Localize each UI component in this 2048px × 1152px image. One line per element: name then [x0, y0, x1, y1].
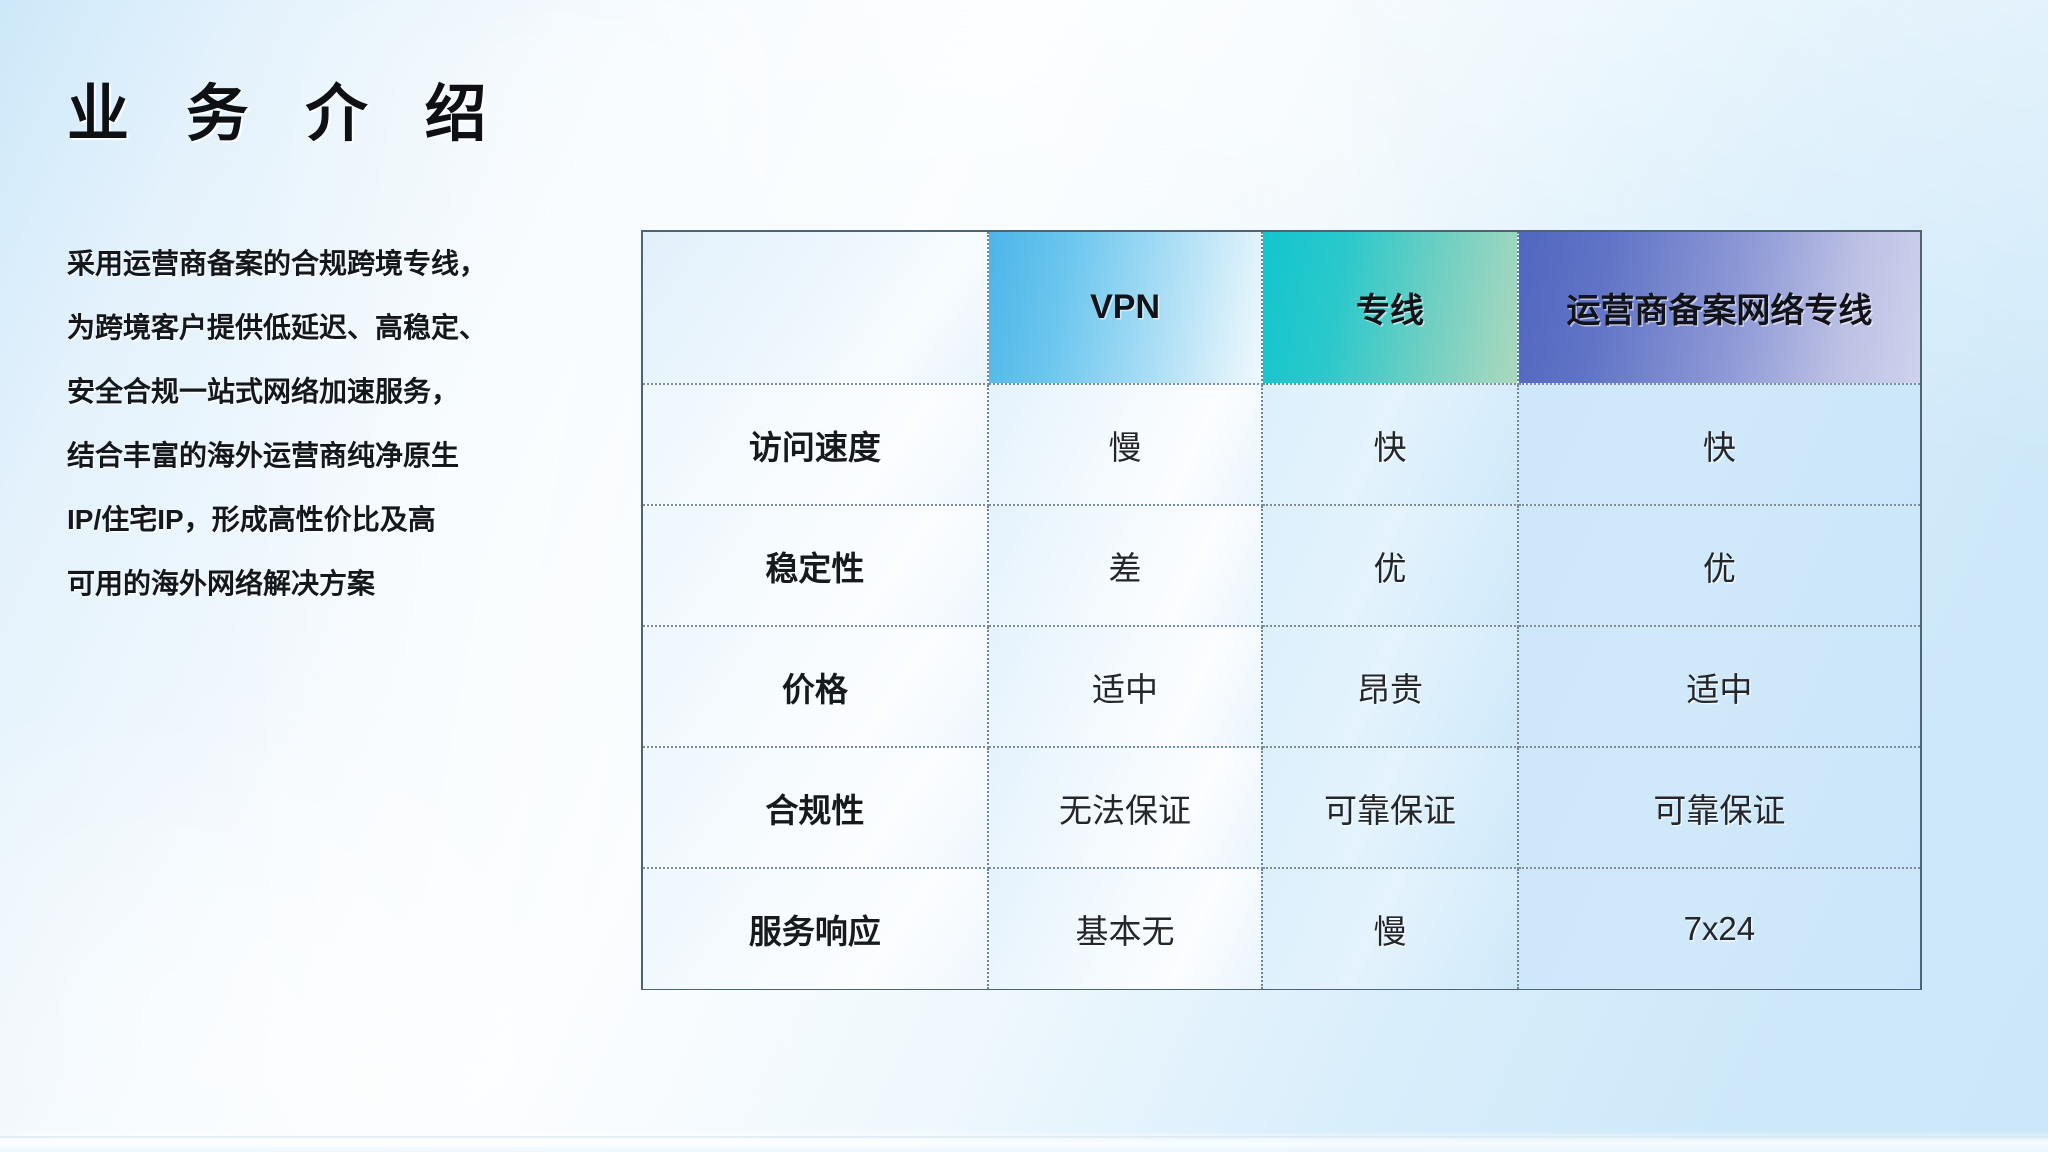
table-cell-value: 昂贵: [1357, 671, 1423, 708]
table-row-label: 合规性: [765, 792, 864, 829]
slide-canvas: 业 务 介 绍 采用运营商备案的合规跨境专线， 为跨境客户提供低延迟、高稳定、 …: [0, 0, 2048, 1152]
table-cell-value: 快: [1703, 429, 1736, 466]
table-row-label-cell: 稳定性: [643, 505, 988, 626]
table-row: 稳定性 差 优 优: [643, 505, 1920, 626]
table-row-label: 稳定性: [765, 550, 864, 587]
table-header: VPN 专线 运营商备案网络专线: [643, 232, 1920, 384]
table-cell-dedicated-line: 快: [1262, 384, 1517, 505]
table-row-label-cell: 服务响应: [643, 868, 988, 989]
table-cell-vpn: 慢: [988, 384, 1263, 505]
table-row-label-cell: 价格: [643, 626, 988, 747]
table-cell-carrier-registered-line: 可靠保证: [1518, 747, 1920, 868]
table-cell-dedicated-line: 优: [1262, 505, 1517, 626]
table-header-row: VPN 专线 运营商备案网络专线: [643, 232, 1920, 384]
table-cell-carrier-registered-line: 7x24: [1518, 868, 1920, 989]
table-cell-carrier-registered-line: 优: [1518, 505, 1920, 626]
table-row-label: 服务响应: [749, 913, 881, 950]
table-header-label: VPN: [1090, 288, 1160, 326]
table-cell-value: 快: [1374, 429, 1407, 466]
table-cell-vpn: 基本无: [988, 868, 1263, 989]
table-cell-value: 可靠保证: [1653, 792, 1785, 829]
table-cell-value: 慢: [1109, 429, 1142, 466]
table-cell-vpn: 适中: [988, 626, 1263, 747]
paragraph-line: 结合丰富的海外运营商纯净原生: [67, 424, 627, 488]
table-cell-value: 差: [1109, 550, 1142, 587]
paragraph-line: IP/住宅IP，形成高性价比及高: [67, 488, 627, 552]
table-header-cell-dedicated-line: 专线: [1262, 232, 1517, 384]
table-header-label: 运营商备案网络专线: [1566, 292, 1872, 330]
table-header-cell-blank: [643, 232, 988, 384]
table-header-cell-carrier-registered-line: 运营商备案网络专线: [1518, 232, 1920, 384]
table-cell-vpn: 差: [988, 505, 1263, 626]
paragraph-line: 可用的海外网络解决方案: [67, 552, 627, 616]
table-cell-value: 无法保证: [1059, 792, 1191, 829]
table-row-label: 价格: [782, 671, 848, 708]
comparison-table-wrapper: VPN 专线 运营商备案网络专线 访问速度 慢: [641, 230, 1922, 990]
paragraph-line: 采用运营商备案的合规跨境专线，: [67, 232, 627, 296]
table-cell-dedicated-line: 昂贵: [1262, 626, 1517, 747]
table-row: 服务响应 基本无 慢 7x24: [643, 868, 1920, 989]
paragraph-line: 为跨境客户提供低延迟、高稳定、: [67, 296, 627, 360]
table-cell-vpn: 无法保证: [988, 747, 1263, 868]
description-paragraph: 采用运营商备案的合规跨境专线， 为跨境客户提供低延迟、高稳定、 安全合规一站式网…: [67, 232, 627, 616]
table-cell-dedicated-line: 慢: [1262, 868, 1517, 989]
table-cell-carrier-registered-line: 快: [1518, 384, 1920, 505]
table-cell-value: 7x24: [1684, 910, 1756, 947]
table-cell-value: 慢: [1374, 913, 1407, 950]
table-cell-value: 适中: [1092, 671, 1158, 708]
table-row-label-cell: 访问速度: [643, 384, 988, 505]
page-title: 业 务 介 绍: [67, 63, 507, 153]
table-cell-dedicated-line: 可靠保证: [1262, 747, 1517, 868]
table-row: 价格 适中 昂贵 适中: [643, 626, 1920, 747]
table-cell-value: 优: [1374, 550, 1407, 587]
table-header-label: 专线: [1356, 292, 1424, 330]
comparison-table: VPN 专线 运营商备案网络专线 访问速度 慢: [643, 232, 1920, 989]
paragraph-line: 安全合规一站式网络加速服务，: [67, 360, 627, 424]
table-cell-value: 适中: [1686, 671, 1752, 708]
table-cell-value: 基本无: [1076, 913, 1175, 950]
table-row: 合规性 无法保证 可靠保证 可靠保证: [643, 747, 1920, 868]
table-body: 访问速度 慢 快 快 稳定性: [643, 384, 1920, 989]
table-row: 访问速度 慢 快 快: [643, 384, 1920, 505]
table-cell-value: 可靠保证: [1324, 792, 1456, 829]
table-row-label-cell: 合规性: [643, 747, 988, 868]
table-cell-carrier-registered-line: 适中: [1518, 626, 1920, 747]
table-row-label: 访问速度: [749, 429, 881, 466]
table-cell-value: 优: [1703, 550, 1736, 587]
background-bottom-band: [0, 1132, 2048, 1152]
table-header-cell-vpn: VPN: [988, 232, 1263, 384]
